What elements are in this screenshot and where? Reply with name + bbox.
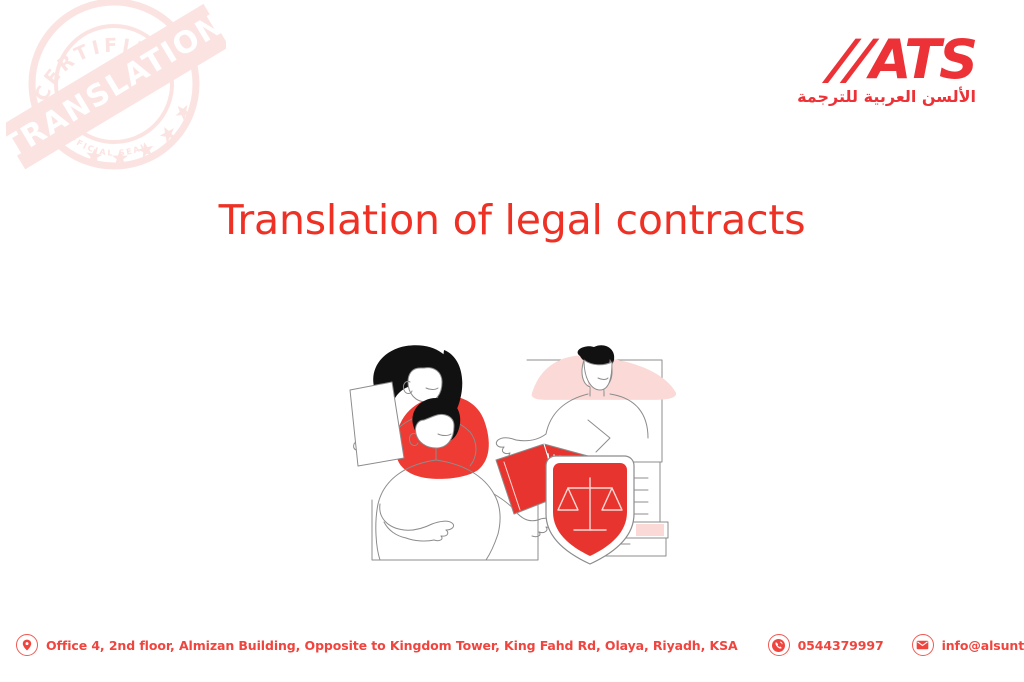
stamp-rings	[32, 2, 196, 166]
figure-man-right	[496, 345, 676, 458]
contact-footer: Office 4, 2nd floor, Almizan Building, O…	[0, 630, 1024, 660]
page-title: Translation of legal contracts	[0, 196, 1024, 244]
svg-text:CERTIFIED: CERTIFIED	[30, 34, 174, 104]
certified-translation-stamp-watermark: CERTIFIED OFFICIAL SEAL TRANSLATION	[6, 0, 226, 186]
legal-contract-translation-illustration	[348, 338, 694, 582]
footer-phone[interactable]: 0544379997	[768, 634, 884, 656]
logo-slash-icon: //	[827, 34, 875, 85]
footer-email[interactable]: info@alsuntranslation.com	[912, 634, 1024, 656]
footer-email-text: info@alsuntranslation.com	[942, 638, 1024, 653]
footer-address: Office 4, 2nd floor, Almizan Building, O…	[16, 634, 738, 656]
svg-text:OFFICIAL SEAL: OFFICIAL SEAL	[62, 129, 149, 158]
envelope-icon	[912, 634, 934, 656]
footer-address-text: Office 4, 2nd floor, Almizan Building, O…	[46, 638, 738, 653]
stamp-arc-text: CERTIFIED OFFICIAL SEAL	[30, 34, 174, 157]
phone-icon	[768, 634, 790, 656]
stamp-stars	[85, 101, 194, 166]
logo-wordmark-text: ATS	[870, 28, 976, 91]
logo-wordmark: //ATS	[816, 34, 976, 85]
svg-text:TRANSLATION: TRANSLATION	[6, 7, 226, 167]
stamp-banner: TRANSLATION	[6, 1, 226, 174]
brand-logo[interactable]: //ATS الألسن العربية للترجمة	[816, 34, 976, 106]
footer-phone-text: 0544379997	[798, 638, 884, 653]
location-pin-icon	[16, 634, 38, 656]
